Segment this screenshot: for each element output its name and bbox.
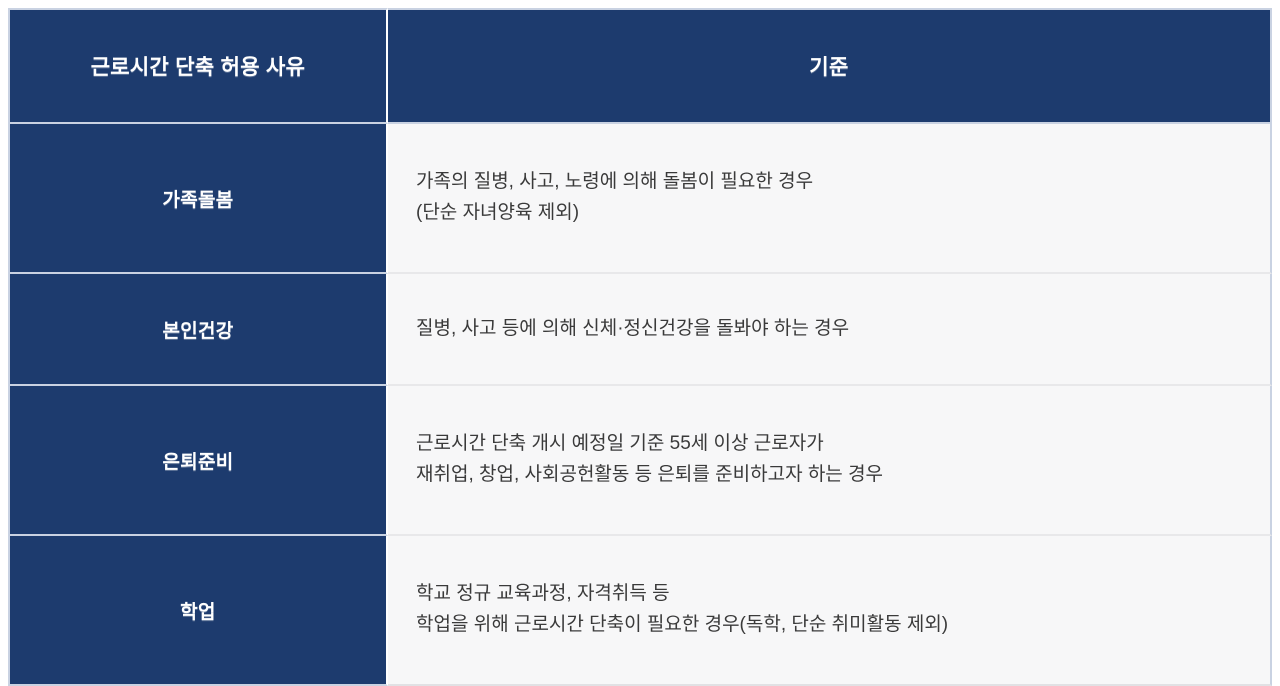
table-header: 근로시간 단축 허용 사유 기준 (8, 8, 1272, 124)
standard-line: 학업을 위해 근로시간 단축이 필요한 경우(독학, 단순 취미활동 제외) (416, 610, 1248, 641)
table-row: 본인건강 질병, 사고 등에 의해 신체·정신건강을 돌봐야 하는 경우 (8, 274, 1272, 386)
row-standard-family-care: 가족의 질병, 사고, 노령에 의해 돌봄이 필요한 경우 (단순 자녀양육 제… (388, 124, 1272, 274)
standard-line: 질병, 사고 등에 의해 신체·정신건강을 돌봐야 하는 경우 (416, 314, 1248, 345)
standard-line: 가족의 질병, 사고, 노령에 의해 돌봄이 필요한 경우 (416, 167, 1248, 198)
column-header-reason: 근로시간 단축 허용 사유 (8, 8, 388, 124)
column-header-standard: 기준 (388, 8, 1272, 124)
standard-line: 근로시간 단축 개시 예정일 기준 55세 이상 근로자가 (416, 429, 1248, 460)
row-standard-retirement-prep: 근로시간 단축 개시 예정일 기준 55세 이상 근로자가 재취업, 창업, 사… (388, 386, 1272, 536)
row-label-study: 학업 (8, 536, 388, 686)
table-body: 가족돌봄 가족의 질병, 사고, 노령에 의해 돌봄이 필요한 경우 (단순 자… (8, 124, 1272, 686)
row-standard-study: 학교 정규 교육과정, 자격취득 등 학업을 위해 근로시간 단축이 필요한 경… (388, 536, 1272, 686)
work-hour-reduction-table: 근로시간 단축 허용 사유 기준 가족돌봄 가족의 질병, 사고, 노령에 의해… (8, 8, 1272, 686)
standard-line: (단순 자녀양육 제외) (416, 198, 1248, 229)
standard-line: 학교 정규 교육과정, 자격취득 등 (416, 579, 1248, 610)
standard-line: 재취업, 창업, 사회공헌활동 등 은퇴를 준비하고자 하는 경우 (416, 460, 1248, 491)
table-row: 은퇴준비 근로시간 단축 개시 예정일 기준 55세 이상 근로자가 재취업, … (8, 386, 1272, 536)
table-header-row: 근로시간 단축 허용 사유 기준 (8, 8, 1272, 124)
row-label-personal-health: 본인건강 (8, 274, 388, 386)
table-row: 학업 학교 정규 교육과정, 자격취득 등 학업을 위해 근로시간 단축이 필요… (8, 536, 1272, 686)
row-label-family-care: 가족돌봄 (8, 124, 388, 274)
row-standard-personal-health: 질병, 사고 등에 의해 신체·정신건강을 돌봐야 하는 경우 (388, 274, 1272, 386)
row-label-retirement-prep: 은퇴준비 (8, 386, 388, 536)
table-container: 근로시간 단축 허용 사유 기준 가족돌봄 가족의 질병, 사고, 노령에 의해… (0, 0, 1280, 686)
table-row: 가족돌봄 가족의 질병, 사고, 노령에 의해 돌봄이 필요한 경우 (단순 자… (8, 124, 1272, 274)
